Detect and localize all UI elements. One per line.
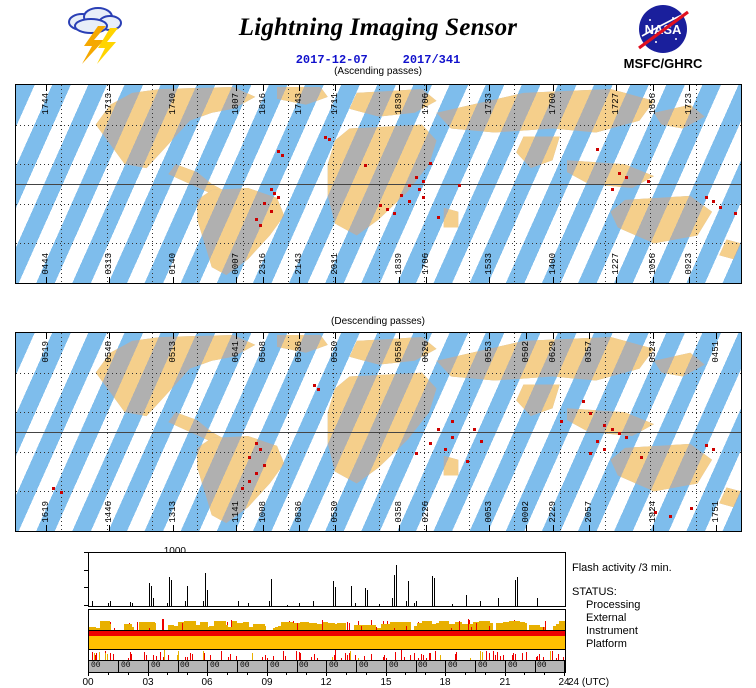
pass-time-label-top: 1723	[684, 93, 694, 115]
pass-time-label-bottom: 0923	[684, 253, 694, 275]
processing-yellow-block	[201, 627, 213, 630]
orbit-cell: 00	[446, 660, 476, 672]
platform-status-tick	[543, 657, 544, 660]
flash-bar	[480, 601, 481, 606]
processing-yellow-block	[516, 622, 524, 630]
platform-status-tick	[192, 654, 193, 660]
date-iso: 2017-12-07	[296, 53, 368, 67]
pass-time-label-top: 0558	[394, 341, 404, 363]
flash-bar	[498, 598, 499, 606]
lightning-flash-marker	[480, 440, 483, 443]
tick-top	[173, 333, 174, 339]
orbit-cell: 00	[89, 660, 119, 672]
tick-bottom	[46, 525, 47, 531]
platform-status-tick	[190, 653, 191, 660]
x-minor-tick	[485, 672, 486, 675]
tick-bottom	[109, 277, 110, 283]
platform-status-tick	[497, 652, 498, 660]
tick-top	[335, 85, 336, 91]
platform-status-tick	[364, 656, 365, 660]
pass-time-label-top: 1743	[294, 93, 304, 115]
processing-red-tick	[114, 628, 115, 630]
orbit-cell: 00	[119, 660, 149, 672]
pass-time-label-top: 0553	[484, 341, 494, 363]
chart-legend: Flash activity /3 min. STATUS: Processin…	[572, 562, 754, 651]
orbit-cell: 00	[327, 660, 357, 672]
pass-time-label-bottom: 1619	[41, 501, 51, 523]
processing-red-tick	[349, 623, 350, 630]
processing-yellow-block	[227, 627, 231, 630]
pass-time-label-top: 0508	[258, 341, 268, 363]
flash-bar	[238, 601, 239, 606]
flash-bar	[396, 565, 397, 606]
lightning-flash-marker	[429, 442, 432, 445]
platform-status-tick	[426, 658, 427, 660]
flash-bar	[416, 601, 417, 606]
platform-status-tick	[556, 658, 557, 660]
platform-status-tick	[144, 652, 145, 660]
flash-bar	[130, 602, 131, 606]
platform-status-tick	[456, 652, 457, 660]
lightning-flash-marker	[259, 448, 262, 451]
lightning-flash-marker	[324, 136, 327, 139]
platform-status-tick	[185, 657, 186, 660]
pass-time-label-top: 1711	[330, 93, 340, 115]
flash-bar	[394, 575, 395, 606]
lightning-flash-marker	[281, 154, 284, 157]
x-tick-label: 09	[255, 677, 279, 688]
processing-yellow-block	[302, 624, 306, 630]
flash-bar	[351, 586, 352, 606]
lightning-flash-marker	[719, 206, 722, 209]
lightning-flash-marker	[52, 487, 55, 490]
lightning-flash-marker	[611, 188, 614, 191]
flash-bars	[89, 553, 565, 606]
pass-time-label-bottom: 2316	[258, 253, 268, 275]
platform-status-tick	[96, 653, 97, 660]
platform-status-tick	[345, 653, 346, 660]
lightning-flash-marker	[277, 196, 280, 199]
lightning-flash-marker	[582, 400, 585, 403]
lightning-flash-marker	[625, 176, 628, 179]
tick-bottom	[335, 277, 336, 283]
lightning-flash-marker	[328, 138, 331, 141]
tick-bottom	[335, 525, 336, 531]
platform-status-tick	[355, 655, 356, 660]
processing-yellow-block	[171, 626, 182, 630]
pass-time-label-bottom: 2057	[584, 501, 594, 523]
pass-time-label-bottom: 1056	[648, 253, 658, 275]
lightning-flash-marker	[263, 202, 266, 205]
platform-status-tick	[273, 656, 274, 660]
pass-time-label-top: 0524	[648, 341, 658, 363]
processing-yellow-block	[364, 625, 375, 630]
legend-processing: Processing	[572, 599, 754, 612]
tick-bottom	[689, 277, 690, 283]
agency-label: MSFC/GHRC	[608, 56, 718, 71]
lightning-flash-marker	[400, 194, 403, 197]
platform-status-tick	[341, 658, 342, 660]
platform-status-tick	[153, 655, 154, 660]
processing-red-tick	[471, 627, 472, 630]
tick-top	[426, 85, 427, 91]
platform-status-tick	[430, 653, 431, 660]
processing-yellow-block	[556, 624, 564, 630]
tick-bottom	[299, 277, 300, 283]
processing-yellow-block	[281, 622, 286, 630]
x-minor-tick	[108, 672, 109, 675]
flash-bar	[271, 579, 272, 606]
lightning-flash-marker	[705, 444, 708, 447]
x-minor-tick	[524, 672, 525, 675]
lightning-flash-marker	[364, 164, 367, 167]
platform-status-tick	[539, 654, 540, 660]
platform-status-tick	[265, 655, 266, 660]
tick-bottom	[299, 525, 300, 531]
processing-yellow-block	[100, 621, 110, 630]
x-minor-tick	[346, 672, 347, 675]
platform-status-tick	[500, 656, 501, 660]
lightning-flash-marker	[589, 412, 592, 415]
lightning-flash-marker	[415, 452, 418, 455]
lightning-flash-marker	[712, 448, 715, 451]
lightning-flash-marker	[429, 162, 432, 165]
legend-flash-activity: Flash activity /3 min.	[572, 562, 754, 575]
tick-bottom	[489, 277, 490, 283]
tick-top	[553, 333, 554, 339]
descending-passes-map[interactable]: 0519054805130641050805360530055806260553…	[15, 332, 742, 532]
lightning-flash-marker	[393, 212, 396, 215]
pass-time-label-top: 1656	[648, 93, 658, 115]
lightning-flash-marker	[248, 456, 251, 459]
platform-status-tick	[421, 654, 422, 660]
lightning-flash-marker	[437, 428, 440, 431]
lightning-flash-marker	[625, 436, 628, 439]
platform-status-tick	[503, 655, 504, 660]
platform-status-tick	[429, 653, 430, 660]
lightning-flash-marker	[705, 196, 708, 199]
lightning-flash-marker	[734, 212, 737, 215]
flash-bar	[379, 604, 380, 606]
pass-time-label-bottom: 1227	[611, 253, 621, 275]
processing-yellow-block	[145, 622, 155, 630]
lightning-flash-marker	[60, 491, 63, 494]
lightning-flash-marker	[241, 487, 244, 490]
processing-red-tick	[376, 627, 377, 630]
tick-bottom	[616, 277, 617, 283]
processing-yellow-block	[502, 624, 507, 630]
flash-bar	[367, 590, 368, 606]
lightning-flash-marker	[690, 507, 693, 510]
pass-time-label-top: 0629	[548, 341, 558, 363]
flash-bar	[333, 581, 334, 606]
processing-yellow-block	[382, 626, 389, 630]
platform-status-tick	[526, 652, 527, 660]
tick-bottom	[426, 277, 427, 283]
platform-status-tick	[236, 656, 237, 660]
platform-status-tick	[283, 651, 284, 660]
pass-time-label-top: 0519	[41, 341, 51, 363]
tick-bottom	[399, 525, 400, 531]
lightning-flash-marker	[277, 150, 280, 153]
platform-status-tick	[480, 651, 481, 660]
tick-top	[426, 333, 427, 339]
flash-bar	[151, 586, 152, 606]
platform-status-tick	[550, 651, 551, 660]
lightning-flash-marker	[418, 188, 421, 191]
lightning-flash-marker	[259, 224, 262, 227]
pass-time-label-top: 0530	[330, 341, 340, 363]
pass-time-label-bottom: 0002	[521, 501, 531, 523]
x-tick-mark	[386, 672, 387, 676]
pass-time-label-bottom: 2143	[294, 253, 304, 275]
pass-time-label-bottom: 0140	[168, 253, 178, 275]
tick-bottom	[426, 525, 427, 531]
lightning-flash-marker	[408, 184, 411, 187]
orbit-cell: 00	[357, 660, 387, 672]
lightning-flash-marker	[611, 428, 614, 431]
pass-time-label-bottom: 0836	[294, 501, 304, 523]
flash-activity-chart[interactable]: 1000100101 00000000000000000000000000000…	[0, 546, 756, 680]
flash-activity-plot[interactable]	[88, 552, 566, 607]
flash-bar	[167, 603, 168, 606]
ascending-passes-map[interactable]: 1744171317401807181617431711183917061733…	[15, 84, 742, 284]
tick-bottom	[46, 277, 47, 283]
processing-yellow-block	[461, 626, 466, 630]
tick-bottom	[236, 525, 237, 531]
platform-status-tick	[99, 652, 100, 660]
lightning-flash-marker	[451, 436, 454, 439]
lightning-flash-marker	[379, 204, 382, 207]
platform-status-tick	[489, 657, 490, 660]
tick-top	[46, 333, 47, 339]
flash-bar	[269, 601, 270, 606]
x-tick-mark	[207, 672, 208, 676]
processing-yellow-block	[236, 624, 248, 630]
platform-status-tick	[401, 650, 402, 660]
flash-bar	[434, 578, 435, 606]
lightning-flash-marker	[654, 511, 657, 514]
x-minor-tick	[425, 672, 426, 675]
grid-layer-descending	[16, 333, 741, 531]
x-tick-label: 06	[195, 677, 219, 688]
platform-status-tick	[314, 654, 315, 660]
processing-yellow-block	[220, 627, 225, 630]
flash-bar	[92, 601, 93, 606]
pass-time-label-top: 0502	[521, 341, 531, 363]
tick-top	[399, 85, 400, 91]
platform-status-tick	[486, 651, 487, 660]
orbit-cell: 00	[297, 660, 327, 672]
platform-status-tick	[146, 655, 147, 660]
flash-bar	[335, 587, 336, 606]
lightning-flash-marker	[560, 420, 563, 423]
orbit-cell: 00	[506, 660, 536, 672]
platform-status-tick	[410, 655, 411, 660]
tick-top	[299, 333, 300, 339]
pass-time-label-top: 0548	[104, 341, 114, 363]
tick-bottom	[109, 525, 110, 531]
pass-time-label-bottom: 1706	[421, 253, 431, 275]
legend-instrument: Instrument	[572, 625, 754, 638]
platform-status-tick	[350, 651, 351, 660]
processing-yellow-block	[273, 628, 278, 630]
tick-bottom	[589, 525, 590, 531]
flash-bar	[515, 580, 516, 606]
lightning-flash-marker	[451, 420, 454, 423]
x-minor-tick	[247, 672, 248, 675]
processing-red-tick	[545, 621, 546, 630]
lightning-flash-marker	[618, 172, 621, 175]
platform-status-tick	[267, 658, 268, 660]
lightning-flash-marker	[317, 388, 320, 391]
orbit-cell: 00	[416, 660, 446, 672]
tick-bottom	[716, 525, 717, 531]
platform-status-tick	[522, 653, 523, 660]
x-axis-unit-label: 24 (UTC)	[568, 677, 609, 688]
platform-status-tick	[495, 658, 496, 660]
platform-status-tick	[113, 654, 114, 660]
x-minor-tick	[128, 672, 129, 675]
flash-bar	[408, 581, 409, 606]
tick-bottom	[526, 525, 527, 531]
lightning-flash-marker	[589, 452, 592, 455]
x-minor-tick	[544, 672, 545, 675]
pass-time-label-top: 0357	[584, 341, 594, 363]
equator-line	[16, 184, 741, 185]
x-tick-mark	[267, 672, 268, 676]
processing-yellow-block	[262, 626, 266, 630]
tick-top	[553, 85, 554, 91]
tick-top	[236, 333, 237, 339]
orbit-cell: 00	[178, 660, 208, 672]
pass-time-label-bottom: 1839	[394, 253, 404, 275]
orbit-cell: 00	[208, 660, 238, 672]
status-instrument-row	[88, 636, 566, 650]
processing-red-tick	[361, 626, 362, 630]
x-axis-line	[88, 672, 566, 673]
platform-status-tick	[423, 655, 424, 660]
platform-status-tick	[131, 654, 132, 660]
flash-bar	[203, 601, 204, 606]
orbit-cell: 00	[238, 660, 268, 672]
processing-red-tick	[394, 628, 395, 630]
processing-yellow-block	[124, 624, 132, 630]
platform-status-tick	[335, 650, 336, 660]
platform-status-tick	[435, 651, 436, 660]
platform-status-tick	[418, 658, 419, 660]
orbit-cell: 00	[268, 660, 298, 672]
platform-orbit-strip: 00000000000000000000000000000000	[89, 660, 565, 672]
legend-external: External	[572, 612, 754, 625]
lightning-flash-marker	[444, 448, 447, 451]
status-processing-row	[88, 609, 566, 631]
lightning-flash-marker	[458, 184, 461, 187]
tick-top	[716, 333, 717, 339]
pass-time-label-bottom: 0530	[330, 501, 340, 523]
x-tick-label: 03	[136, 677, 160, 688]
processing-yellow-block	[475, 622, 487, 630]
flash-bar	[287, 605, 288, 606]
flash-bar	[108, 603, 109, 606]
pass-time-label-bottom: 0444	[41, 253, 51, 275]
tick-top	[616, 85, 617, 91]
pass-time-label-bottom: 0313	[104, 253, 114, 275]
platform-status-tick	[160, 652, 161, 660]
tick-bottom	[236, 277, 237, 283]
platform-status-tick	[92, 652, 93, 660]
tick-top	[489, 333, 490, 339]
x-tick-label: 15	[374, 677, 398, 688]
pass-time-label-top: 1713	[104, 93, 114, 115]
flash-bar	[299, 603, 300, 606]
tick-top	[109, 333, 110, 339]
platform-status-tick	[285, 656, 286, 660]
pass-time-label-top: 0626	[421, 341, 431, 363]
processing-red-tick	[163, 619, 164, 630]
gridline-horizontal	[16, 243, 741, 244]
processing-yellow-block	[316, 624, 321, 630]
platform-status-tick	[558, 654, 559, 660]
tick-top	[263, 85, 264, 91]
lightning-flash-marker	[618, 432, 621, 435]
platform-status-tick	[414, 653, 415, 660]
tick-top	[589, 333, 590, 339]
platform-status-tick	[178, 651, 179, 660]
tick-top	[173, 85, 174, 91]
processing-red-tick	[297, 623, 298, 630]
lightning-flash-marker	[603, 424, 606, 427]
flash-bar	[414, 603, 415, 606]
lightning-flash-marker	[273, 192, 276, 195]
processing-red-tick	[182, 623, 183, 630]
processing-yellow-block	[418, 623, 422, 630]
platform-status-tick	[493, 651, 494, 660]
lightning-flash-marker	[422, 180, 425, 183]
orbit-cell: 00	[476, 660, 506, 672]
lightning-flash-marker	[313, 384, 316, 387]
processing-yellow-block	[329, 624, 337, 630]
platform-status-tick	[470, 658, 471, 660]
pass-time-label-bottom: 2011	[330, 253, 340, 275]
grid-layer-ascending	[16, 85, 741, 283]
flash-bar	[392, 598, 393, 606]
processing-red-tick	[406, 626, 407, 630]
processing-yellow-block	[439, 621, 448, 630]
pass-time-label-bottom: 0007	[231, 253, 241, 275]
x-tick-label: 00	[76, 677, 100, 688]
flash-bar	[466, 595, 467, 606]
pass-time-label-bottom: 1141	[231, 501, 241, 523]
descending-caption: (Descending passes)	[0, 316, 756, 327]
x-tick-mark	[564, 672, 565, 676]
tick-bottom	[399, 277, 400, 283]
flash-bar	[171, 580, 172, 606]
status-platform-row: 00000000000000000000000000000000	[88, 650, 566, 672]
tick-bottom	[173, 525, 174, 531]
platform-status-tick	[252, 653, 253, 660]
platform-status-tick	[163, 657, 164, 660]
platform-status-tick	[168, 655, 169, 660]
gridline-horizontal	[16, 373, 741, 374]
pass-time-label-bottom: 1313	[168, 501, 178, 523]
lightning-flash-marker	[386, 208, 389, 211]
tick-bottom	[653, 277, 654, 283]
x-tick-label: 12	[314, 677, 338, 688]
pass-time-label-bottom: 1533	[484, 253, 494, 275]
pass-time-label-bottom: 2229	[548, 501, 558, 523]
platform-status-tick	[404, 657, 405, 660]
